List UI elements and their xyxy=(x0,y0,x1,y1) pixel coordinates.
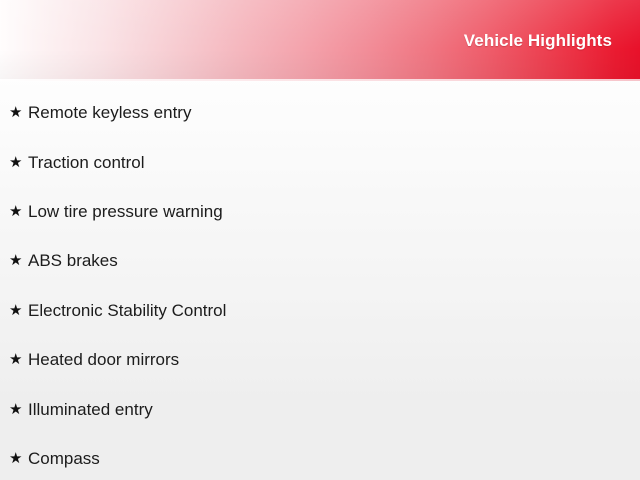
list-item-label: Electronic Stability Control xyxy=(28,300,226,321)
star-icon: ★ xyxy=(9,449,28,468)
list-item-label: ABS brakes xyxy=(28,250,118,271)
list-item-label: Heated door mirrors xyxy=(28,349,179,370)
star-icon: ★ xyxy=(9,400,28,419)
list-item: ★ Low tire pressure warning xyxy=(0,187,640,236)
star-icon: ★ xyxy=(9,251,28,270)
header-banner: Vehicle Highlights xyxy=(0,0,640,79)
list-item: ★ Illuminated entry xyxy=(0,384,640,433)
list-item: ★ Remote keyless entry xyxy=(0,88,640,137)
list-item-label: Traction control xyxy=(28,152,145,173)
star-icon: ★ xyxy=(9,103,28,122)
vehicle-highlights-list: ★ Remote keyless entry ★ Traction contro… xyxy=(0,88,640,480)
star-icon: ★ xyxy=(9,301,28,320)
header-divider xyxy=(0,79,640,81)
list-item-label: Illuminated entry xyxy=(28,399,153,420)
star-icon: ★ xyxy=(9,350,28,369)
list-item-label: Compass xyxy=(28,448,100,469)
list-item: ★ Compass xyxy=(0,434,640,480)
star-icon: ★ xyxy=(9,202,28,221)
list-item: ★ Heated door mirrors xyxy=(0,335,640,384)
page-title: Vehicle Highlights xyxy=(464,31,612,51)
list-item-label: Remote keyless entry xyxy=(28,102,191,123)
list-item: ★ ABS brakes xyxy=(0,236,640,285)
list-item: ★ Electronic Stability Control xyxy=(0,286,640,335)
list-item: ★ Traction control xyxy=(0,137,640,186)
vehicle-highlights-page: Vehicle Highlights ★ Remote keyless entr… xyxy=(0,0,640,480)
list-item-label: Low tire pressure warning xyxy=(28,201,223,222)
star-icon: ★ xyxy=(9,153,28,172)
